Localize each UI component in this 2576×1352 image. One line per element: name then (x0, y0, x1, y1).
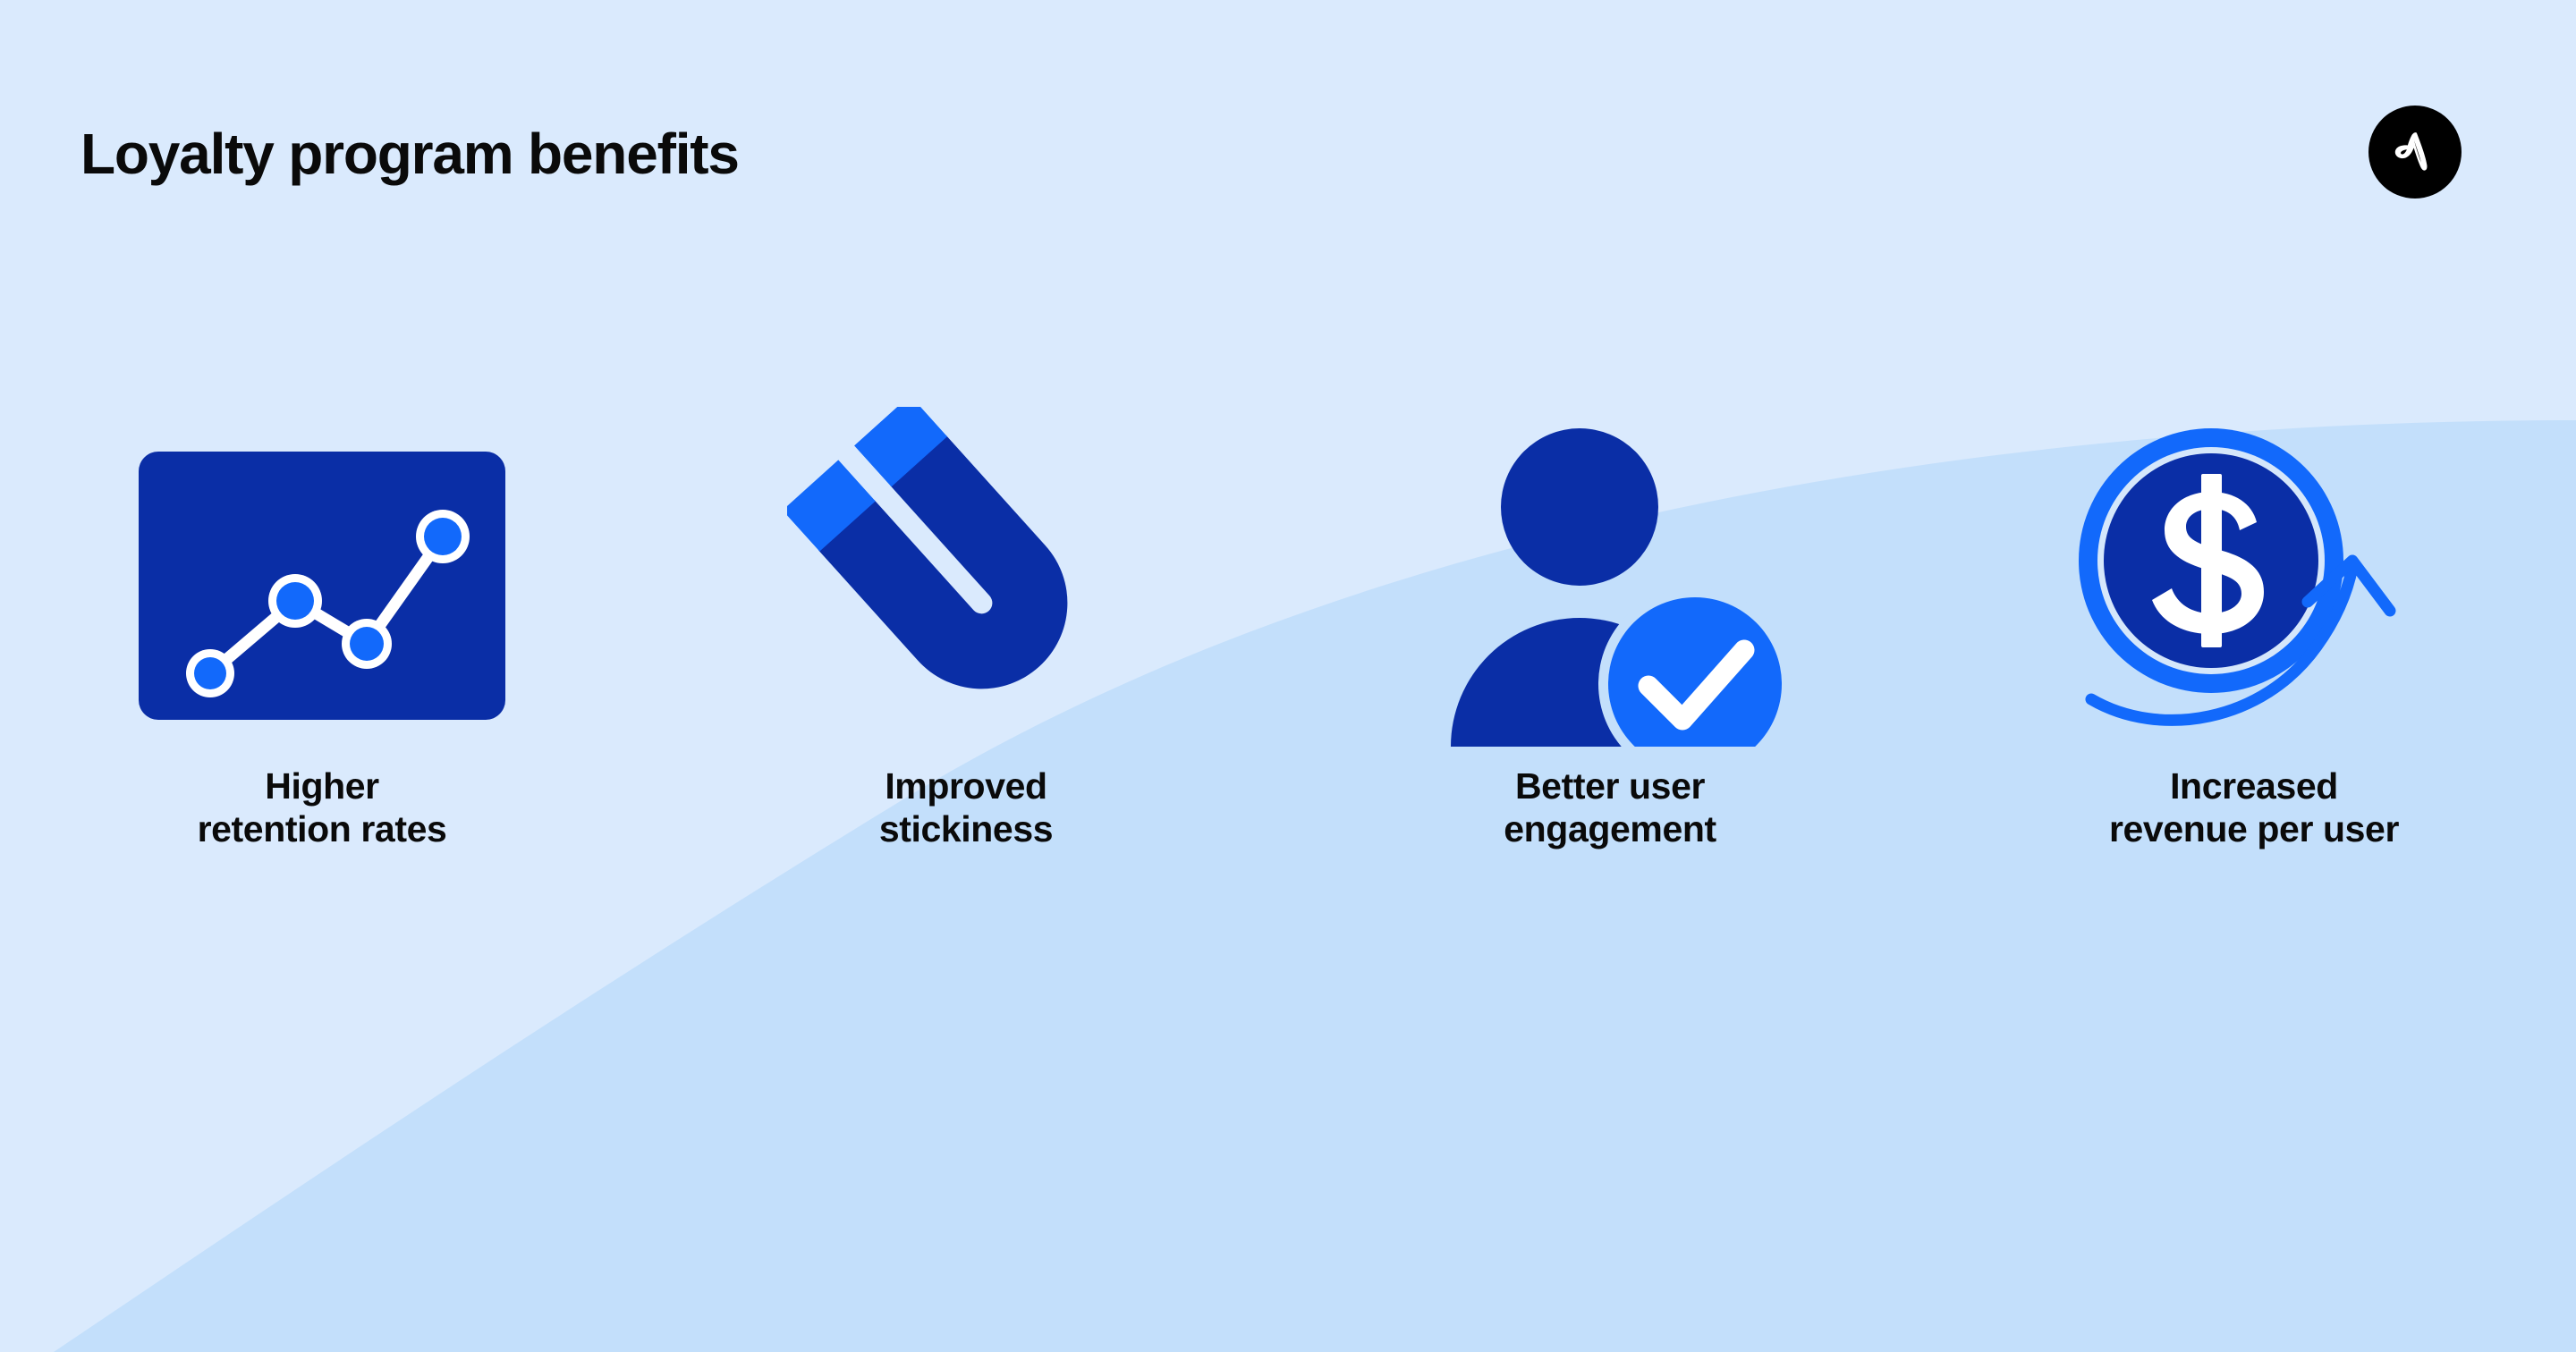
amplitude-logo (2368, 106, 2462, 199)
amplitude-a-icon (2387, 124, 2443, 180)
dollar-coin-growth-arrow-icon-slot (1932, 393, 2576, 778)
line-chart-card-icon (134, 447, 510, 724)
benefits-row: Higher retention rates Improved stickine… (0, 393, 2576, 850)
benefit-label: Improved stickiness (879, 765, 1053, 850)
benefit-item-better-user-engagement: Better user engagement (1288, 393, 1932, 850)
magnet-icon-slot (644, 393, 1288, 778)
magnet-icon (787, 407, 1145, 765)
benefit-label: Higher retention rates (198, 765, 447, 850)
infographic-canvas: Loyalty program benefits (0, 0, 2576, 1352)
benefit-label: Increased revenue per user (2109, 765, 2399, 850)
page-title: Loyalty program benefits (80, 125, 739, 182)
benefit-item-improved-stickiness: Improved stickiness (644, 393, 1288, 850)
benefit-item-increased-revenue-per-user: Increased revenue per user (1932, 393, 2576, 850)
user-verified-icon-slot (1288, 393, 1932, 778)
user-verified-icon (1422, 425, 1798, 747)
dollar-coin-growth-arrow-icon (2039, 407, 2469, 765)
benefit-label: Better user engagement (1504, 765, 1716, 850)
line-chart-card-icon-slot (0, 393, 644, 778)
benefit-item-higher-retention-rates: Higher retention rates (0, 393, 644, 850)
